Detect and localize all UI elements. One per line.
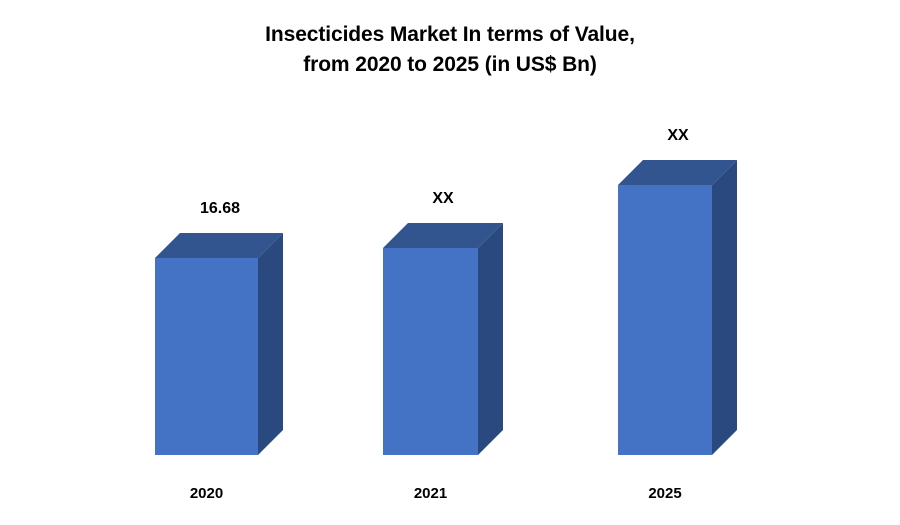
category-label-2025: 2025 — [618, 485, 712, 502]
chart-container: Insecticides Market In terms of Value, f… — [0, 0, 900, 525]
bar-group-2025: XX — [618, 100, 778, 470]
category-label-2020: 2020 — [155, 485, 258, 502]
bar-front-face-2021 — [383, 248, 478, 455]
bar-side-face-2021 — [478, 223, 503, 455]
bar-side-face-2020 — [258, 233, 283, 455]
bar-3d-2025 — [618, 100, 778, 470]
category-label-2021: 2021 — [383, 485, 478, 502]
bar-3d-2020 — [155, 150, 315, 470]
bar-group-2021: XX — [383, 150, 543, 470]
bar-3d-2021 — [383, 150, 543, 470]
bar-front-face-2025 — [618, 185, 712, 455]
plot-area: 16.68 2020 XX 2021 XX — [0, 0, 900, 525]
bar-group-2020: 16.68 — [155, 150, 315, 470]
bar-side-face-2025 — [712, 160, 737, 455]
bar-front-face-2020 — [155, 258, 258, 455]
